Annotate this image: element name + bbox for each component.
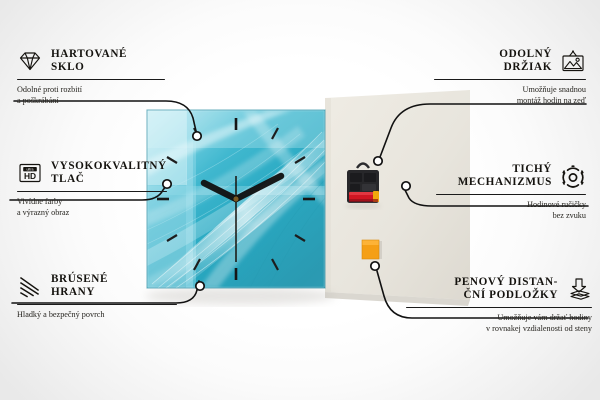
feature-subtitle-line: a výrazný obraz [17,207,167,218]
feature-subtitle: Umožňuje vám držať hodiny v rovnakej vzd… [406,312,592,335]
feature-title-line: PENOVÝ DISTAN- [454,276,558,289]
divider [17,79,165,80]
gear-icon [560,164,586,188]
feature-subtitle-line: Umožňuje snadnou [434,84,586,95]
feature-title-line: BRÚSENÉ [51,273,108,286]
feature-subtitle-line: Hodinové ručičky [436,199,586,210]
feature-subtitle: Hladký a bezpečný povrch [17,309,177,320]
feature-foam-spacers: PENOVÝ DISTAN- ČNÍ PODLOŽKY Umožňuje vám… [406,276,592,335]
feature-title-line: HARTOVANÉ [51,48,127,61]
feature-title-line: ODOLNÝ [499,48,552,61]
feature-polished-edges: BRÚSENÉ HRANY Hladký a bezpečný povrch [17,273,177,320]
feature-subtitle-line: Odolné proti rozbití [17,84,165,95]
feature-title: ODOLNÝ DRŽIAK [499,48,552,74]
svg-text:HD: HD [24,171,36,181]
diagonal-lines-icon [17,274,43,298]
feature-header: ODOLNÝ DRŽIAK [434,48,586,74]
foam-spacer-pad [362,240,382,259]
feature-title-line: TLAČ [51,173,167,186]
feature-title-line: VYSOKOKVALITNÝ [51,160,167,173]
feature-subtitle-line: bez zvuku [436,210,586,221]
feature-header: HARTOVANÉ SKLO [17,48,165,74]
divider [17,304,177,305]
feature-header: BRÚSENÉ HRANY [17,273,177,299]
feature-title-line: SKLO [51,61,127,74]
feature-title-line: DRŽIAK [499,61,552,74]
feature-header: PENOVÝ DISTAN- ČNÍ PODLOŽKY [406,276,592,302]
feature-subtitle: Hodinové ručičky bez zvuku [436,199,586,222]
ultra-hd-icon: ultra HD [17,161,43,185]
feature-subtitle: Vivídne farby a výrazný obraz [17,196,167,219]
feature-title: BRÚSENÉ HRANY [51,273,108,299]
feature-title-line: ČNÍ PODLOŽKY [454,289,558,302]
feature-title-line: TICHÝ [458,163,552,176]
feature-subtitle: Odolné proti rozbití a poškrábání [17,84,165,107]
divider [436,194,586,195]
feature-subtitle-line: v rovnakej vzdialenosti od steny [406,323,592,334]
feature-title: HARTOVANÉ SKLO [51,48,127,74]
feature-subtitle-line: Vivídne farby [17,196,167,207]
feature-high-quality-print: ultra HD VYSOKOKVALITNÝ TLAČ Vivídne far… [17,160,167,219]
divider [406,307,592,308]
feature-subtitle-line: a poškrábání [17,95,165,106]
feature-title: VYSOKOKVALITNÝ TLAČ [51,160,167,186]
feature-title: PENOVÝ DISTAN- ČNÍ PODLOŽKY [454,276,558,302]
feature-subtitle: Umožňuje snadnou montáž hodin na zeď [434,84,586,107]
feature-header: TICHÝ MECHANIZMUS [436,163,586,189]
divider [434,79,586,80]
feature-durable-holder: ODOLNÝ DRŽIAK Umožňuje snadnou montáž ho… [434,48,586,107]
feature-subtitle-line: Hladký a bezpečný povrch [17,309,177,320]
feature-title: TICHÝ MECHANIZMUS [458,163,552,189]
feature-title-line: MECHANIZMUS [458,176,552,189]
infographic-canvas: HARTOVANÉ SKLO Odolné proti rozbití a po… [0,0,600,400]
picture-frame-hanger-icon [560,49,586,73]
arrow-down-stack-icon [566,277,592,301]
diamond-icon [17,49,43,73]
clock-face-pattern [147,110,340,294]
feature-tempered-glass: HARTOVANÉ SKLO Odolné proti rozbití a po… [17,48,165,107]
feature-subtitle-line: Umožňuje vám držať hodiny [406,312,592,323]
feature-silent-mechanism: TICHÝ MECHANIZMUS Hodinové ručičky [436,163,586,222]
divider [17,191,167,192]
feature-header: ultra HD VYSOKOKVALITNÝ TLAČ [17,160,167,186]
feature-title-line: HRANY [51,286,108,299]
feature-subtitle-line: montáž hodin na zeď [434,95,586,106]
clock-movement [345,164,381,210]
